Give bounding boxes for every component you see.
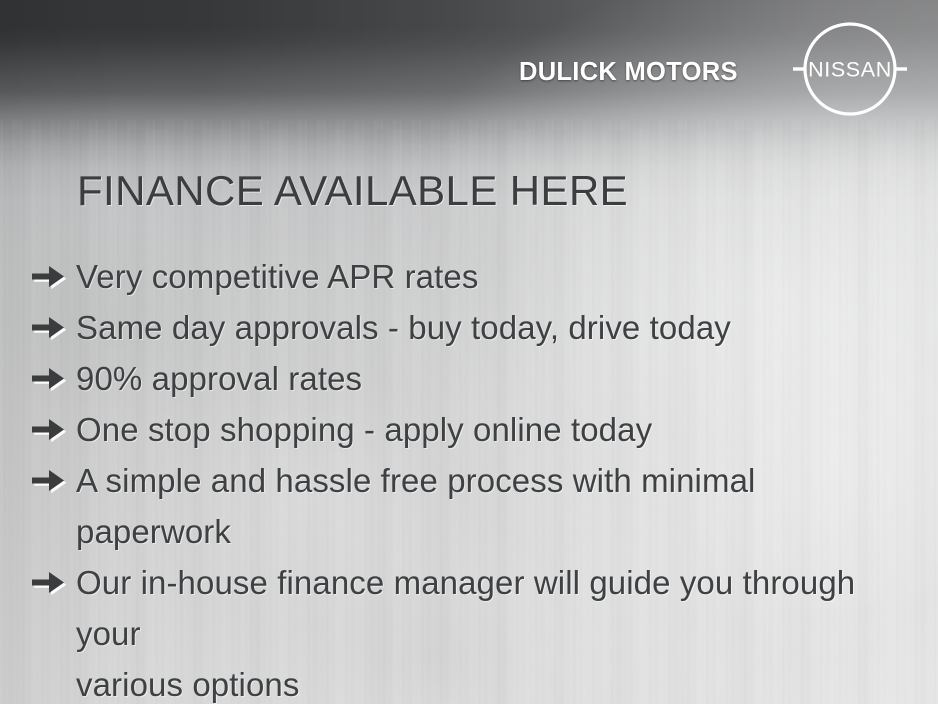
right-arrow-icon <box>29 263 67 290</box>
list-item-label: Same day approvals - buy today, drive to… <box>76 302 919 353</box>
list-item-label: A simple and hassle free process with mi… <box>76 455 919 557</box>
list-item: Very competitive APR rates <box>29 251 919 302</box>
list-item-label: Our in-house finance manager will guide … <box>76 557 919 704</box>
dealership-brand-name: DULICK MOTORS <box>519 58 738 87</box>
list-item-label: 90% approval rates <box>76 353 919 404</box>
list-item-label: One stop shopping - apply online today <box>76 404 919 455</box>
right-arrow-icon <box>29 365 67 392</box>
list-item: A simple and hassle free process with mi… <box>29 455 919 557</box>
list-item: One stop shopping - apply online today <box>29 404 919 455</box>
finance-slide: DULICK MOTORS NISSAN FINANCE AVAILABLE H… <box>0 0 938 704</box>
benefits-list: Very competitive APR rates Same day appr… <box>29 251 919 704</box>
slide-header: DULICK MOTORS NISSAN <box>0 0 938 135</box>
list-item: Our in-house finance manager will guide … <box>29 557 919 704</box>
list-item-label: Very competitive APR rates <box>76 251 919 302</box>
page-title: FINANCE AVAILABLE HERE <box>77 167 628 215</box>
list-item: 90% approval rates <box>29 353 919 404</box>
nissan-wordmark: NISSAN <box>808 58 892 82</box>
right-arrow-icon <box>29 569 67 596</box>
nissan-logo: NISSAN <box>788 17 912 121</box>
right-arrow-icon <box>29 314 67 341</box>
right-arrow-icon <box>29 416 67 443</box>
list-item: Same day approvals - buy today, drive to… <box>29 302 919 353</box>
right-arrow-icon <box>29 467 67 494</box>
